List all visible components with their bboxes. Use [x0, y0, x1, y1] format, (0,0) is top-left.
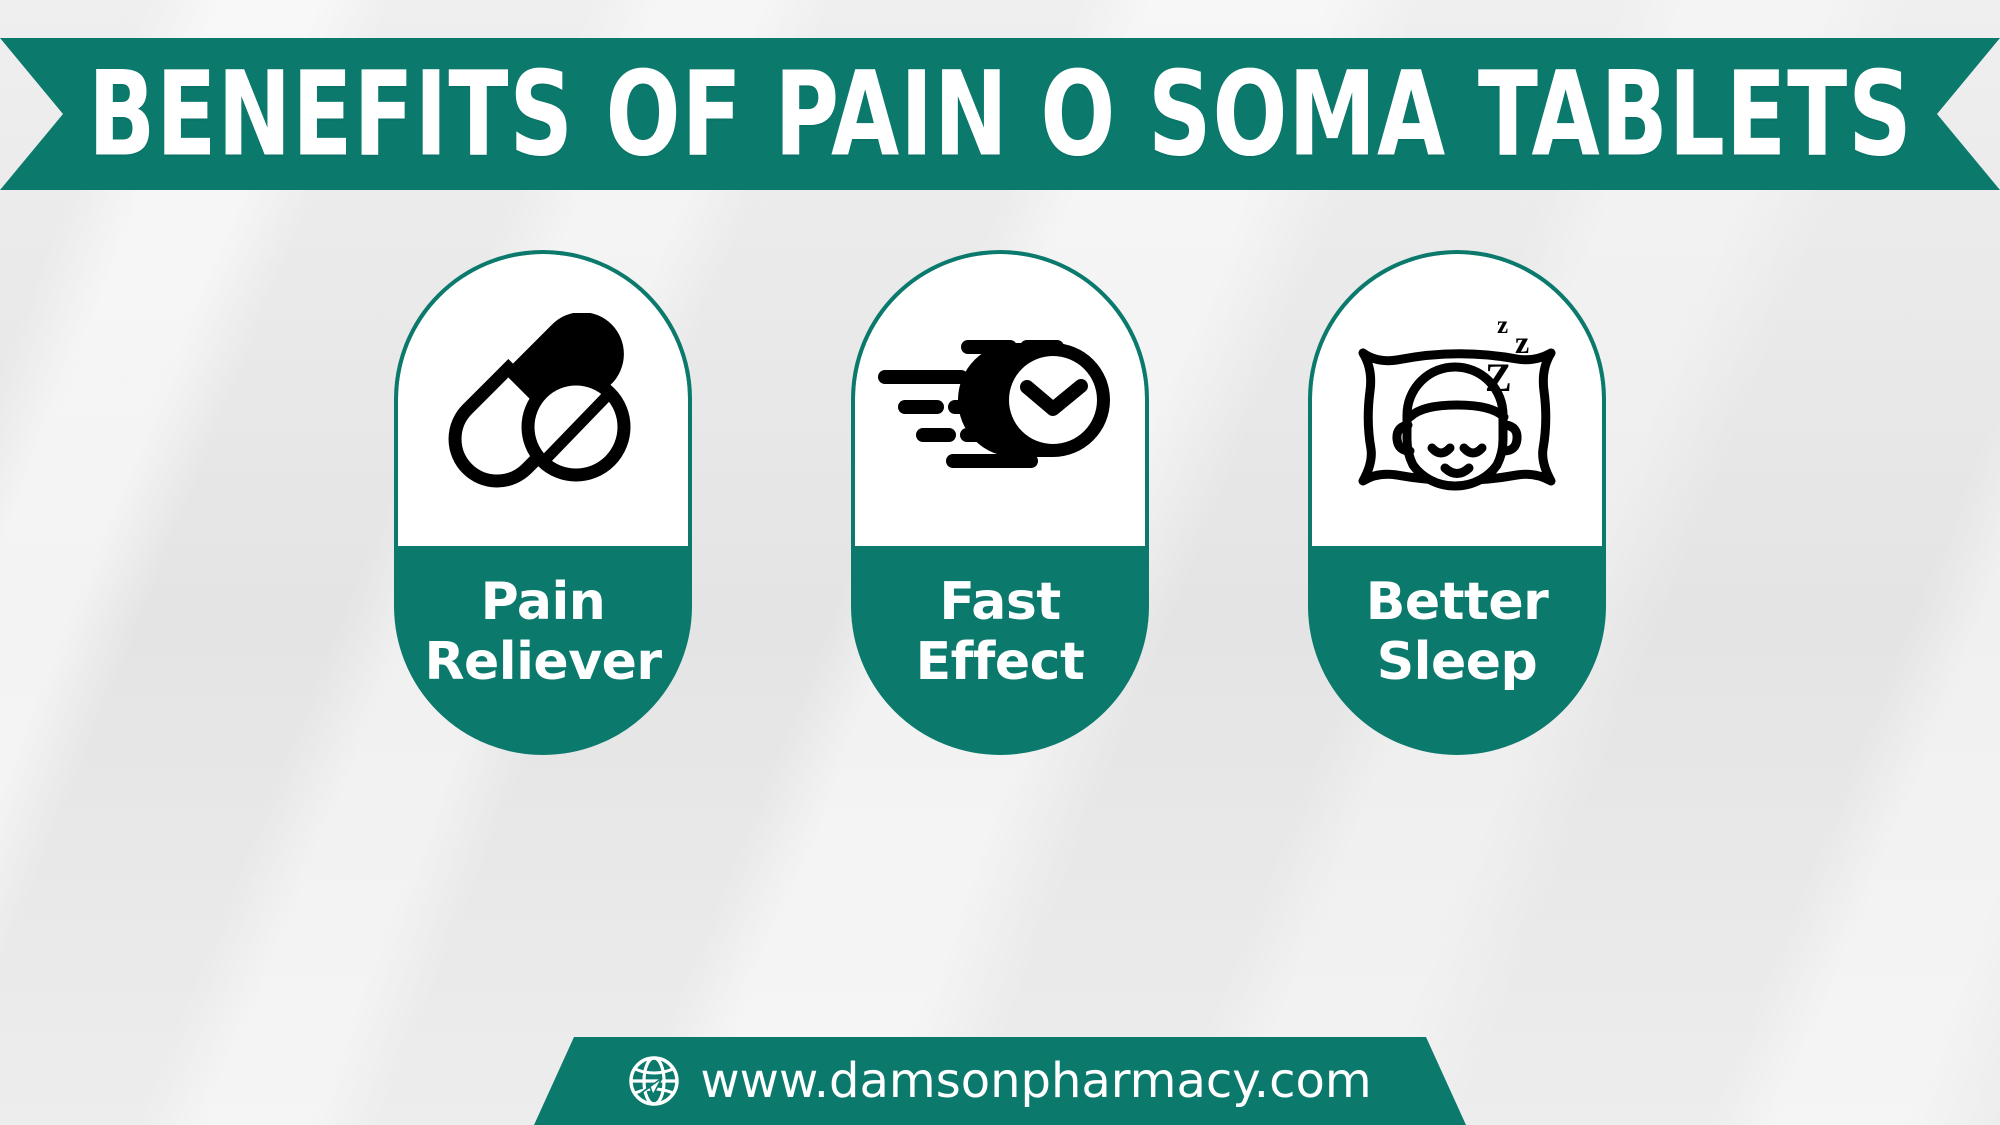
fast-clock-icon	[875, 325, 1125, 475]
benefit-card-fast-effect[interactable]: Fast Effect	[851, 250, 1149, 755]
card-label-line2: Reliever	[424, 632, 661, 692]
card-label-line1: Fast	[939, 572, 1060, 632]
card-icon-area: Z z z	[1312, 254, 1602, 546]
globe-icon	[628, 1055, 680, 1107]
card-icon-area	[855, 254, 1145, 546]
benefits-card-row: Pain Reliever	[0, 250, 2000, 770]
card-label: Pain Reliever	[398, 546, 688, 751]
card-icon-area	[398, 254, 688, 546]
card-label-line1: Better	[1366, 572, 1549, 632]
footer-content[interactable]: www.damsonpharmacy.com	[628, 1055, 1371, 1107]
svg-text:z: z	[1497, 312, 1508, 339]
page-title: BENEFITS OF PAIN O SOMA TABLETS	[88, 55, 1913, 172]
pills-capsule-icon	[448, 313, 638, 488]
card-label: Fast Effect	[855, 546, 1145, 751]
footer-banner: www.damsonpharmacy.com	[0, 1037, 2000, 1125]
card-label-line2: Effect	[916, 632, 1085, 692]
card-label-line1: Pain	[481, 572, 606, 632]
benefit-card-better-sleep[interactable]: Z z z Better Sleep	[1308, 250, 1606, 755]
benefit-card-pain-reliever[interactable]: Pain Reliever	[394, 250, 692, 755]
footer-url-text[interactable]: www.damsonpharmacy.com	[700, 1057, 1371, 1105]
sleeping-face-pillow-icon: Z z z	[1337, 305, 1577, 495]
svg-text:z: z	[1515, 324, 1529, 360]
svg-text:Z: Z	[1485, 355, 1512, 400]
card-label-line2: Sleep	[1377, 632, 1538, 692]
card-label: Better Sleep	[1312, 546, 1602, 751]
header-ribbon: BENEFITS OF PAIN O SOMA TABLETS	[0, 38, 2000, 190]
